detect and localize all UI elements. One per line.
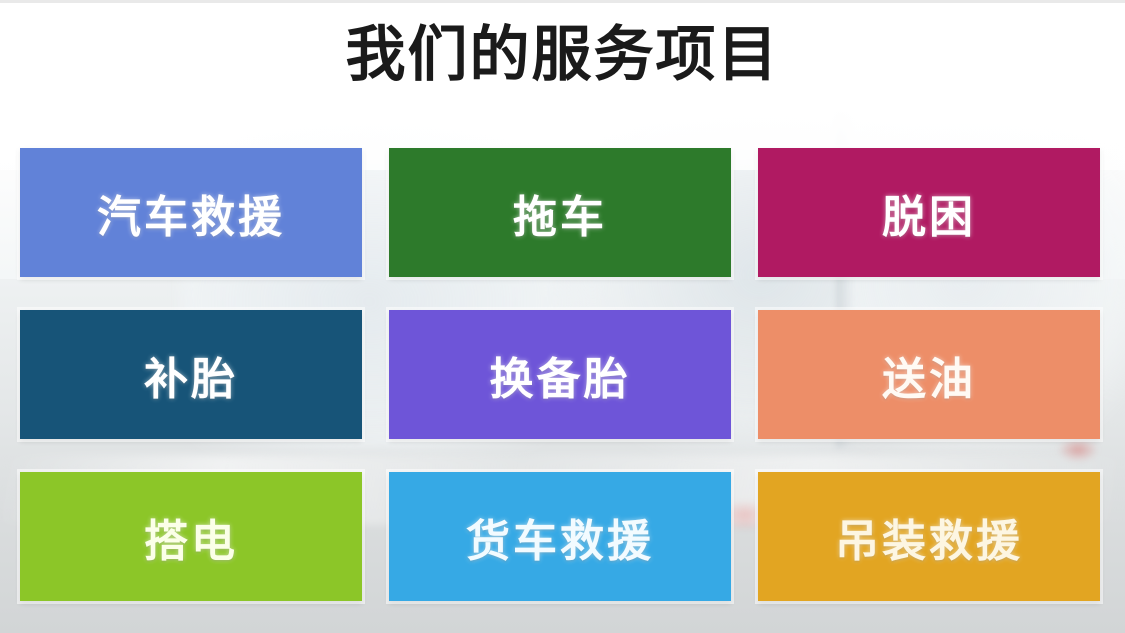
service-tile-truck-rescue[interactable]: 货车救援 — [389, 472, 731, 601]
service-tile-tire-repair[interactable]: 补胎 — [20, 310, 362, 439]
top-divider-line — [0, 0, 1125, 3]
service-tile-spare-tire[interactable]: 换备胎 — [389, 310, 731, 439]
service-tile-label: 送油 — [882, 343, 976, 407]
service-tile-tow-truck[interactable]: 拖车 — [389, 148, 731, 277]
page-title: 我们的服务项目 — [0, 22, 1125, 88]
service-grid: 汽车救援 拖车 脱困 补胎 换备胎 送油 搭电 货车救援 吊装救援 — [20, 148, 1100, 600]
service-tile-hoisting-rescue[interactable]: 吊装救援 — [758, 472, 1100, 601]
service-tile-car-rescue[interactable]: 汽车救援 — [20, 148, 362, 277]
service-tile-label: 补胎 — [144, 343, 238, 407]
service-tile-label: 汽车救援 — [97, 181, 285, 245]
service-tile-label: 吊装救援 — [835, 505, 1023, 569]
service-tile-label: 拖车 — [513, 181, 607, 245]
service-tile-label: 搭电 — [144, 505, 238, 569]
service-tile-extrication[interactable]: 脱困 — [758, 148, 1100, 277]
service-tile-label: 脱困 — [882, 181, 976, 245]
service-tile-jump-start[interactable]: 搭电 — [20, 472, 362, 601]
service-poster: 我们的服务项目 汽车救援 拖车 脱困 补胎 换备胎 送油 搭电 货车救援 吊装救… — [0, 0, 1125, 633]
service-tile-fuel-delivery[interactable]: 送油 — [758, 310, 1100, 439]
service-tile-label: 货车救援 — [466, 505, 654, 569]
service-tile-label: 换备胎 — [490, 343, 631, 407]
